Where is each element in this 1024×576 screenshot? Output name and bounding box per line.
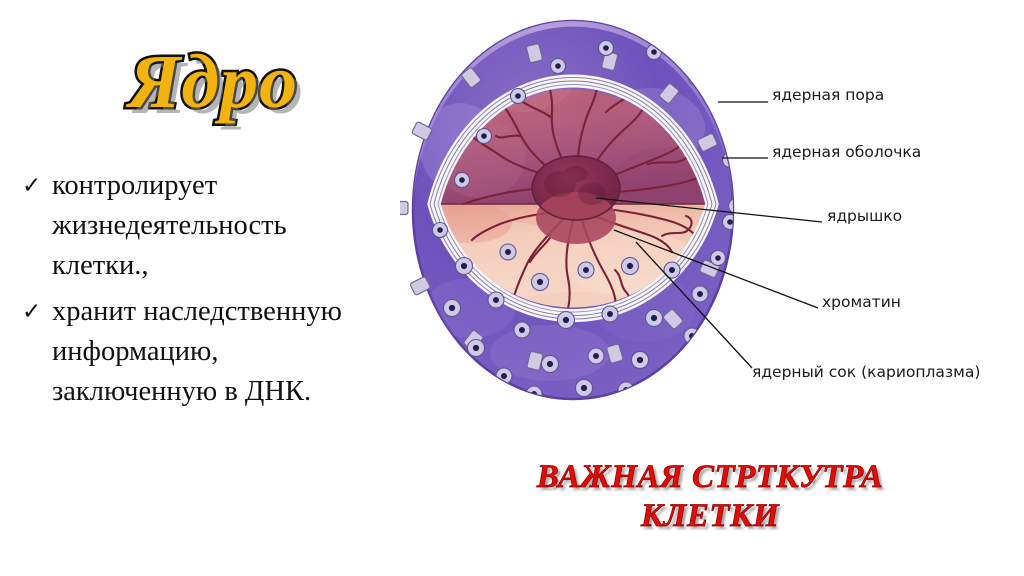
label-chromatin: хроматин (822, 293, 901, 311)
check-icon: ✓ (16, 292, 52, 332)
label-nuclear-envelope: ядерная оболочка (772, 143, 921, 161)
slide-canvas: Ядро ✓ контролирует жизнедеятельность кл… (0, 0, 1024, 576)
list-item: ✓ контролирует жизнедеятельность клетки.… (16, 166, 416, 286)
bullet-list: ✓ контролирует жизнедеятельность клетки.… (16, 166, 416, 418)
check-icon: ✓ (16, 166, 52, 206)
label-nucleolus: ядрышко (827, 207, 902, 225)
caption-line-2: КЛЕТКИ (495, 497, 925, 536)
nucleolus (532, 156, 620, 244)
list-item: ✓ хранит наследственную информацию, закл… (16, 292, 416, 412)
bullet-text: хранит наследственную информацию, заключ… (52, 292, 382, 412)
label-nuclear-pore: ядерная пора (772, 86, 884, 104)
caption-line-1: ВАЖНАЯ СТРТКУТРА (495, 458, 925, 497)
bullet-text: контролирует жизнедеятельность клетки., (52, 166, 382, 286)
label-nuclear-sap: ядерный сок (кариоплазма) (752, 363, 980, 381)
bottom-caption: ВАЖНАЯ СТРТКУТРА КЛЕТКИ (495, 458, 925, 536)
page-title: Ядро (128, 44, 298, 120)
